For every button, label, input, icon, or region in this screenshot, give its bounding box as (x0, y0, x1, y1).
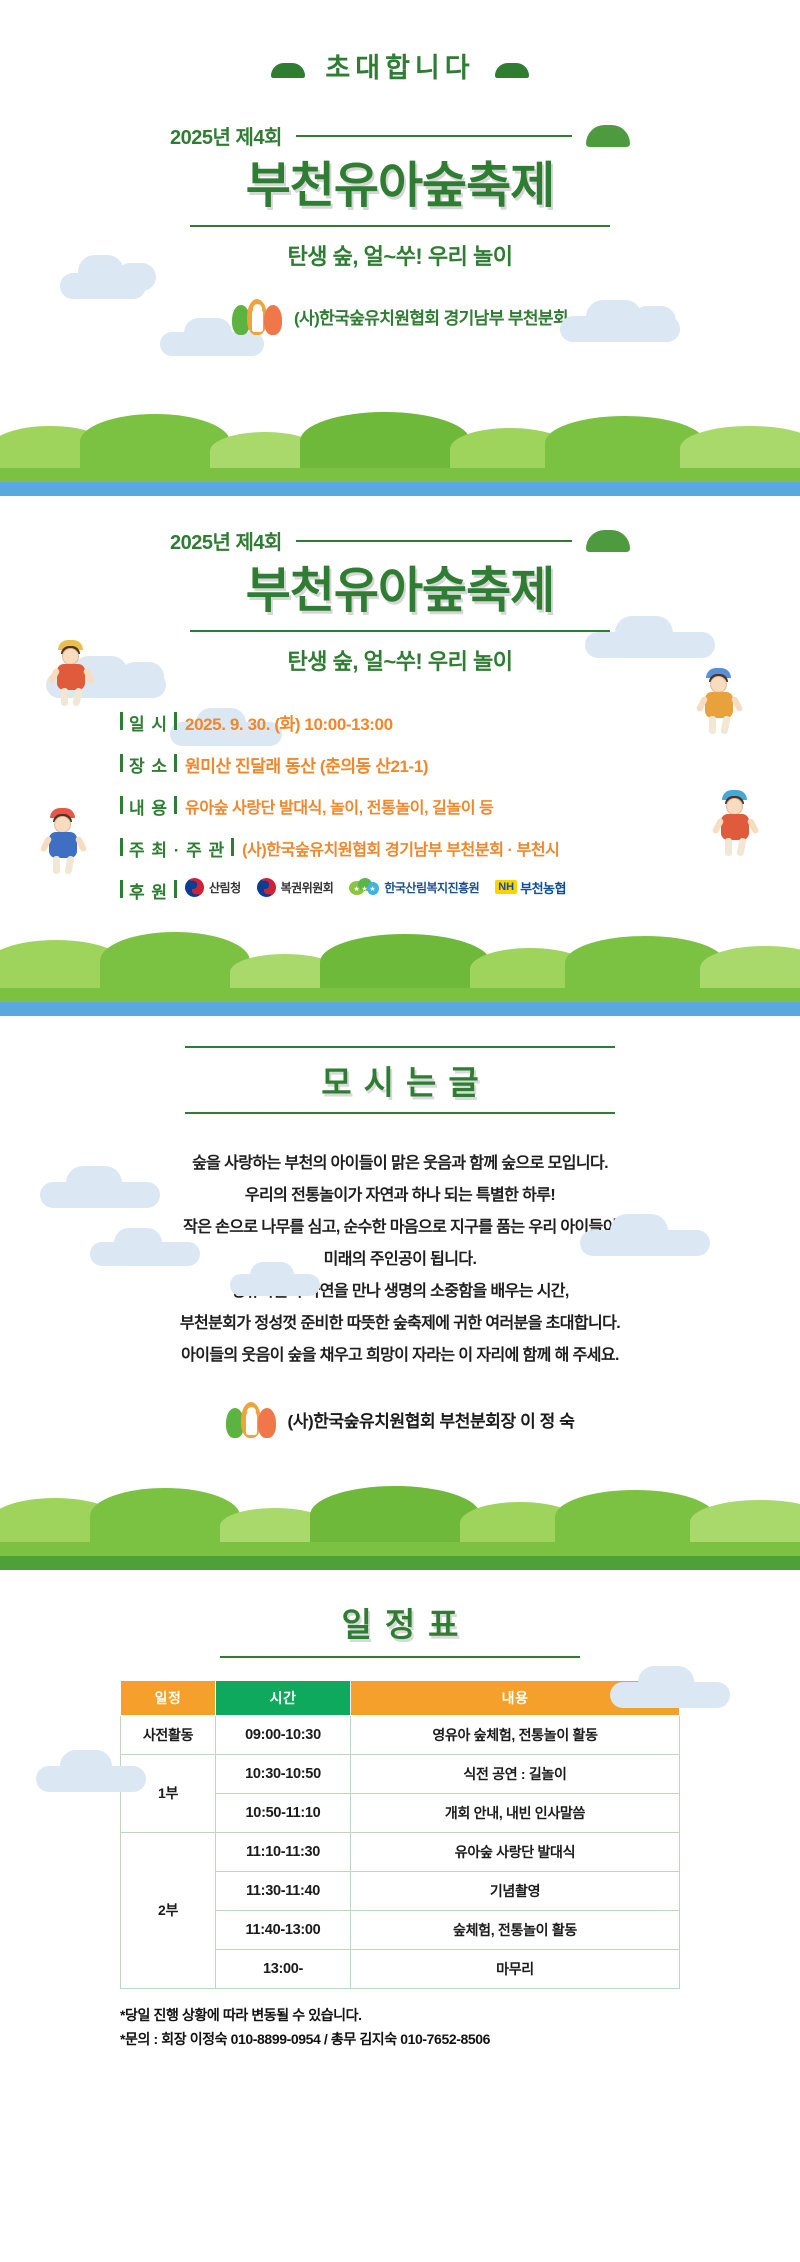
festival-title-2: 부천유아숲축제 (0, 563, 800, 620)
grass-strip-green (0, 1542, 800, 1556)
schedule-section: 일정표 일정 시간 내용 사전활동 09:00-10:30 영유아 숲체험, 전… (0, 1570, 800, 2102)
cell-what: 숲체험, 전통놀이 활동 (351, 1910, 680, 1949)
grass-divider-2 (0, 920, 800, 1016)
schedule-divider (220, 1656, 580, 1658)
cell-what: 개회 안내, 내빈 인사말씀 (351, 1793, 680, 1832)
sponsor-name: 한국산림복지진흥원 (384, 879, 479, 896)
schedule-heading-wrap: 일정표 (235, 1598, 565, 1646)
association-row: (사)한국숲유치원협회 경기남부 부천분회 (0, 297, 800, 337)
greeting-line: 부천분회가 정성껏 준비한 따뜻한 숲축제에 귀한 여러분을 초대합니다. (0, 1308, 800, 1340)
info-value: 유아숲 사랑단 발대식, 놀이, 전통놀이, 길놀이 등 (185, 794, 494, 818)
greeting-line: 영유아들이 자연을 만나 생명의 소중함을 배우는 시간, (0, 1276, 800, 1308)
greeting-line: 아이들의 웃음이 숲을 채우고 희망이 자라는 이 자리에 함께 해 주세요. (0, 1340, 800, 1372)
cell-when: 2부 (121, 1832, 216, 1988)
leaf-icon (495, 63, 529, 78)
child-figure-decoration (712, 796, 760, 860)
year-row: 2025년 제4회 (170, 121, 630, 150)
festival-subtitle-2: 탄생 숲, 얼~쑤! 우리 놀이 (0, 644, 800, 676)
festival-title: 부천유아숲축제 (0, 158, 800, 215)
greeting-line: 미래의 주인공이 됩니다. (0, 1244, 800, 1276)
info-value: 원미산 진달래 동산 (춘의동 산21-1) (185, 752, 428, 777)
info-row-contents: 내 용 유아숲 사랑단 발대식, 놀이, 전통놀이, 길놀이 등 (120, 794, 680, 819)
details-section: 2025년 제4회 부천유아숲축제 탄생 숲, 얼~쑤! 우리 놀이 (0, 496, 800, 903)
grass-strip-blue (0, 1002, 800, 1016)
info-label: 일 시 (120, 710, 177, 735)
cell-time: 13:00- (216, 1949, 351, 1988)
column-header-when: 일정 (121, 1680, 216, 1715)
forest-welfare-icon: ★★★ (349, 878, 379, 897)
signature-row: (사)한국숲유치원협회 부천분회장 이 정 숙 (0, 1400, 800, 1440)
taegeuk-icon (253, 874, 279, 900)
cell-time: 11:40-13:00 (216, 1910, 351, 1949)
sponsor-forest-welfare: ★★★ 한국산림복지진흥원 (349, 878, 479, 897)
cell-what: 식전 공연 : 길놀이 (351, 1754, 680, 1793)
grass-bumps (0, 412, 800, 470)
info-row-host: 주 최 · 주 관 (사)한국숲유치원협회 경기남부 부천분회 · 부천시 (120, 836, 680, 861)
table-row: 사전활동 09:00-10:30 영유아 숲체험, 전통놀이 활동 (121, 1715, 680, 1754)
grass-divider-1 (0, 400, 800, 496)
hero-section: 초대합니다 2025년 제4회 부천유아숲축제 탄생 숲, 얼~쑤! 우리 놀이… (0, 0, 800, 400)
nh-icon: NH (495, 880, 517, 894)
grass-strip-green (0, 988, 800, 1002)
heading-divider-bottom (185, 1112, 615, 1114)
info-list: 일 시 2025. 9. 30. (화) 10:00-13:00 장 소 원미산… (120, 710, 680, 903)
greeting-heading-band: 모시는글 (185, 1046, 615, 1114)
invite-label: 초대합니다 (325, 46, 474, 85)
forest-kindergarten-logo-icon (226, 1400, 278, 1440)
bottom-spacer (0, 2052, 800, 2092)
cell-time: 11:30-11:40 (216, 1871, 351, 1910)
forest-kindergarten-logo-icon (232, 297, 284, 337)
sponsor-name: 산림청 (209, 879, 241, 896)
cell-when: 1부 (121, 1754, 216, 1832)
year-divider (296, 135, 572, 137)
schedule-heading: 일정표 (235, 1598, 565, 1646)
invite-header: 초대합니다 (0, 0, 800, 85)
grass-bumps (0, 932, 800, 990)
table-header-row: 일정 시간 내용 (121, 1680, 680, 1715)
title-divider-2 (190, 630, 610, 632)
note-line: *당일 진행 상황에 따라 변동될 수 있습니다. (120, 2003, 680, 2028)
info-row-sponsors: 후 원 산림청 복권위원회 ★★★ (120, 878, 680, 903)
leaf-icon (271, 63, 305, 78)
cell-what: 기념촬영 (351, 1871, 680, 1910)
column-header-time: 시간 (216, 1680, 351, 1715)
schedule-table: 일정 시간 내용 사전활동 09:00-10:30 영유아 숲체험, 전통놀이 … (120, 1680, 680, 1989)
taegeuk-icon (182, 874, 208, 900)
greeting-line: 작은 손으로 나무를 심고, 순수한 마음으로 지구를 품는 우리 아이들이 (0, 1212, 800, 1244)
festival-subtitle: 탄생 숲, 얼~쑤! 우리 놀이 (0, 239, 800, 271)
info-value: 2025. 9. 30. (화) 10:00-13:00 (185, 710, 393, 735)
greeting-body: 숲을 사랑하는 부천의 아이들이 맑은 웃음과 함께 숲으로 모입니다. 우리의… (0, 1148, 800, 1372)
info-label: 장 소 (120, 752, 177, 777)
cell-time: 10:50-11:10 (216, 1793, 351, 1832)
column-header-what: 내용 (351, 1680, 680, 1715)
sponsor-label: 후 원 (120, 878, 177, 903)
sponsor-korea-forest-service: 산림청 (185, 878, 241, 897)
year-divider-2 (296, 540, 572, 542)
cell-time: 10:30-10:50 (216, 1754, 351, 1793)
table-row: 2부 11:10-11:30 유아숲 사랑단 발대식 (121, 1832, 680, 1871)
association-name: (사)한국숲유치원협회 경기남부 부천분회 (294, 304, 568, 329)
cell-when: 사전활동 (121, 1715, 216, 1754)
grass-bumps (0, 1486, 800, 1544)
heading-divider-top (185, 1046, 615, 1048)
sponsor-bucheon-nh: NH 부천농협 (495, 878, 566, 897)
cell-what: 유아숲 사랑단 발대식 (351, 1832, 680, 1871)
year-row-2: 2025년 제4회 (170, 526, 630, 555)
signature-name: (사)한국숲유치원협회 부천분회장 이 정 숙 (288, 1407, 575, 1432)
greeting-line: 우리의 전통놀이가 자연과 하나 되는 특별한 하루! (0, 1180, 800, 1212)
cell-time: 11:10-11:30 (216, 1832, 351, 1871)
schedule-table-body: 사전활동 09:00-10:30 영유아 숲체험, 전통놀이 활동 1부 10:… (121, 1715, 680, 1988)
grass-strip-green (0, 468, 800, 482)
info-label: 내 용 (120, 794, 177, 819)
year-label-2: 2025년 제4회 (170, 526, 282, 555)
sponsor-logos: 산림청 복권위원회 ★★★ 한국산림복지진흥원 NH (185, 878, 566, 897)
sponsor-name: 부천농협 (520, 878, 566, 897)
leaf-blob-icon (586, 530, 630, 552)
schedule-notes: *당일 진행 상황에 따라 변동될 수 있습니다. *문의 : 회장 이정숙 0… (120, 2003, 680, 2052)
table-row: 1부 10:30-10:50 식전 공연 : 길놀이 (121, 1754, 680, 1793)
festival-poster: 초대합니다 2025년 제4회 부천유아숲축제 탄생 숲, 얼~쑤! 우리 놀이… (0, 0, 800, 2262)
note-line: *문의 : 회장 이정숙 010-8899-0954 / 총무 김지숙 010-… (120, 2027, 680, 2052)
cell-time: 09:00-10:30 (216, 1715, 351, 1754)
info-row-place: 장 소 원미산 진달래 동산 (춘의동 산21-1) (120, 752, 680, 777)
sponsor-lottery-commission: 복권위원회 (257, 878, 334, 897)
cell-what: 마무리 (351, 1949, 680, 1988)
schedule-table-head: 일정 시간 내용 (121, 1680, 680, 1715)
sponsor-name: 복권위원회 (281, 879, 334, 896)
grass-strip-blue (0, 482, 800, 496)
info-row-datetime: 일 시 2025. 9. 30. (화) 10:00-13:00 (120, 710, 680, 735)
leaf-blob-icon (586, 125, 630, 147)
greeting-line: 숲을 사랑하는 부천의 아이들이 맑은 웃음과 함께 숲으로 모입니다. (0, 1148, 800, 1180)
child-figure-decoration (696, 674, 744, 738)
grass-strip-darkgreen (0, 1556, 800, 1570)
info-value: (사)한국숲유치원협회 경기남부 부천분회 · 부천시 (242, 836, 559, 860)
grass-divider-3 (0, 1474, 800, 1570)
title-divider (190, 225, 610, 227)
year-label: 2025년 제4회 (170, 121, 282, 150)
cell-what: 영유아 숲체험, 전통놀이 활동 (351, 1715, 680, 1754)
greeting-heading: 모시는글 (185, 1056, 615, 1104)
child-figure-decoration (40, 814, 88, 878)
info-label: 주 최 · 주 관 (120, 836, 234, 861)
greeting-section: 모시는글 숲을 사랑하는 부천의 아이들이 맑은 웃음과 함께 숲으로 모입니다… (0, 1016, 800, 1440)
